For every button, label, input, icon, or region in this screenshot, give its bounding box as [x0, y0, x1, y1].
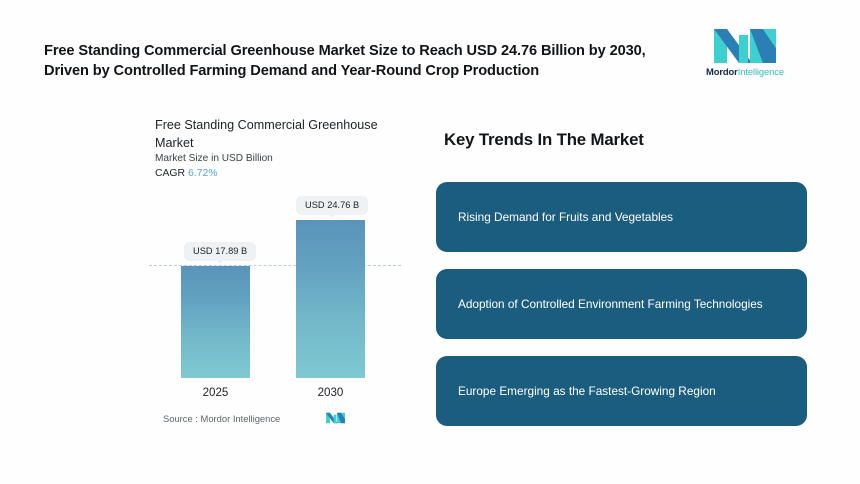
bar-value-label-2025: USD 17.89 B — [185, 243, 255, 260]
source-label: Source : Mordor Intelligence — [163, 413, 280, 424]
bar-value-label-2030: USD 24.76 B — [297, 197, 367, 214]
source-row: Source : Mordor Intelligence — [163, 412, 345, 424]
chart-subtitle: Market Size in USD Billion — [155, 153, 273, 164]
bar-2030[interactable] — [296, 220, 365, 378]
x-axis-label-2030: 2030 — [296, 386, 365, 399]
cagr-row: CAGR6.72% — [155, 168, 218, 179]
trend-card[interactable]: Rising Demand for Fruits and Vegetables — [436, 182, 807, 252]
infographic-canvas: Free Standing Commercial Greenhouse Mark… — [0, 0, 860, 484]
x-axis-label-2025: 2025 — [181, 386, 250, 399]
trend-card-label: Adoption of Controlled Environment Farmi… — [458, 295, 763, 313]
market-size-chart: Free Standing Commercial Greenhouse Mark… — [0, 0, 430, 484]
trends-heading: Key Trends In The Market — [444, 130, 644, 150]
cagr-label: CAGR — [155, 168, 185, 179]
trend-card[interactable]: Europe Emerging as the Fastest-Growing R… — [436, 356, 807, 426]
cagr-value: 6.72% — [188, 168, 217, 179]
trend-card-label: Europe Emerging as the Fastest-Growing R… — [458, 382, 716, 400]
mordor-m-logo-icon — [326, 412, 345, 424]
chart-title: Free Standing Commercial Greenhouse Mark… — [155, 117, 385, 152]
bar-2025[interactable] — [181, 266, 250, 378]
trend-card-label: Rising Demand for Fruits and Vegetables — [458, 208, 673, 226]
trend-card[interactable]: Adoption of Controlled Environment Farmi… — [436, 269, 807, 339]
key-trends-panel: Key Trends In The Market Rising Demand f… — [430, 0, 860, 484]
